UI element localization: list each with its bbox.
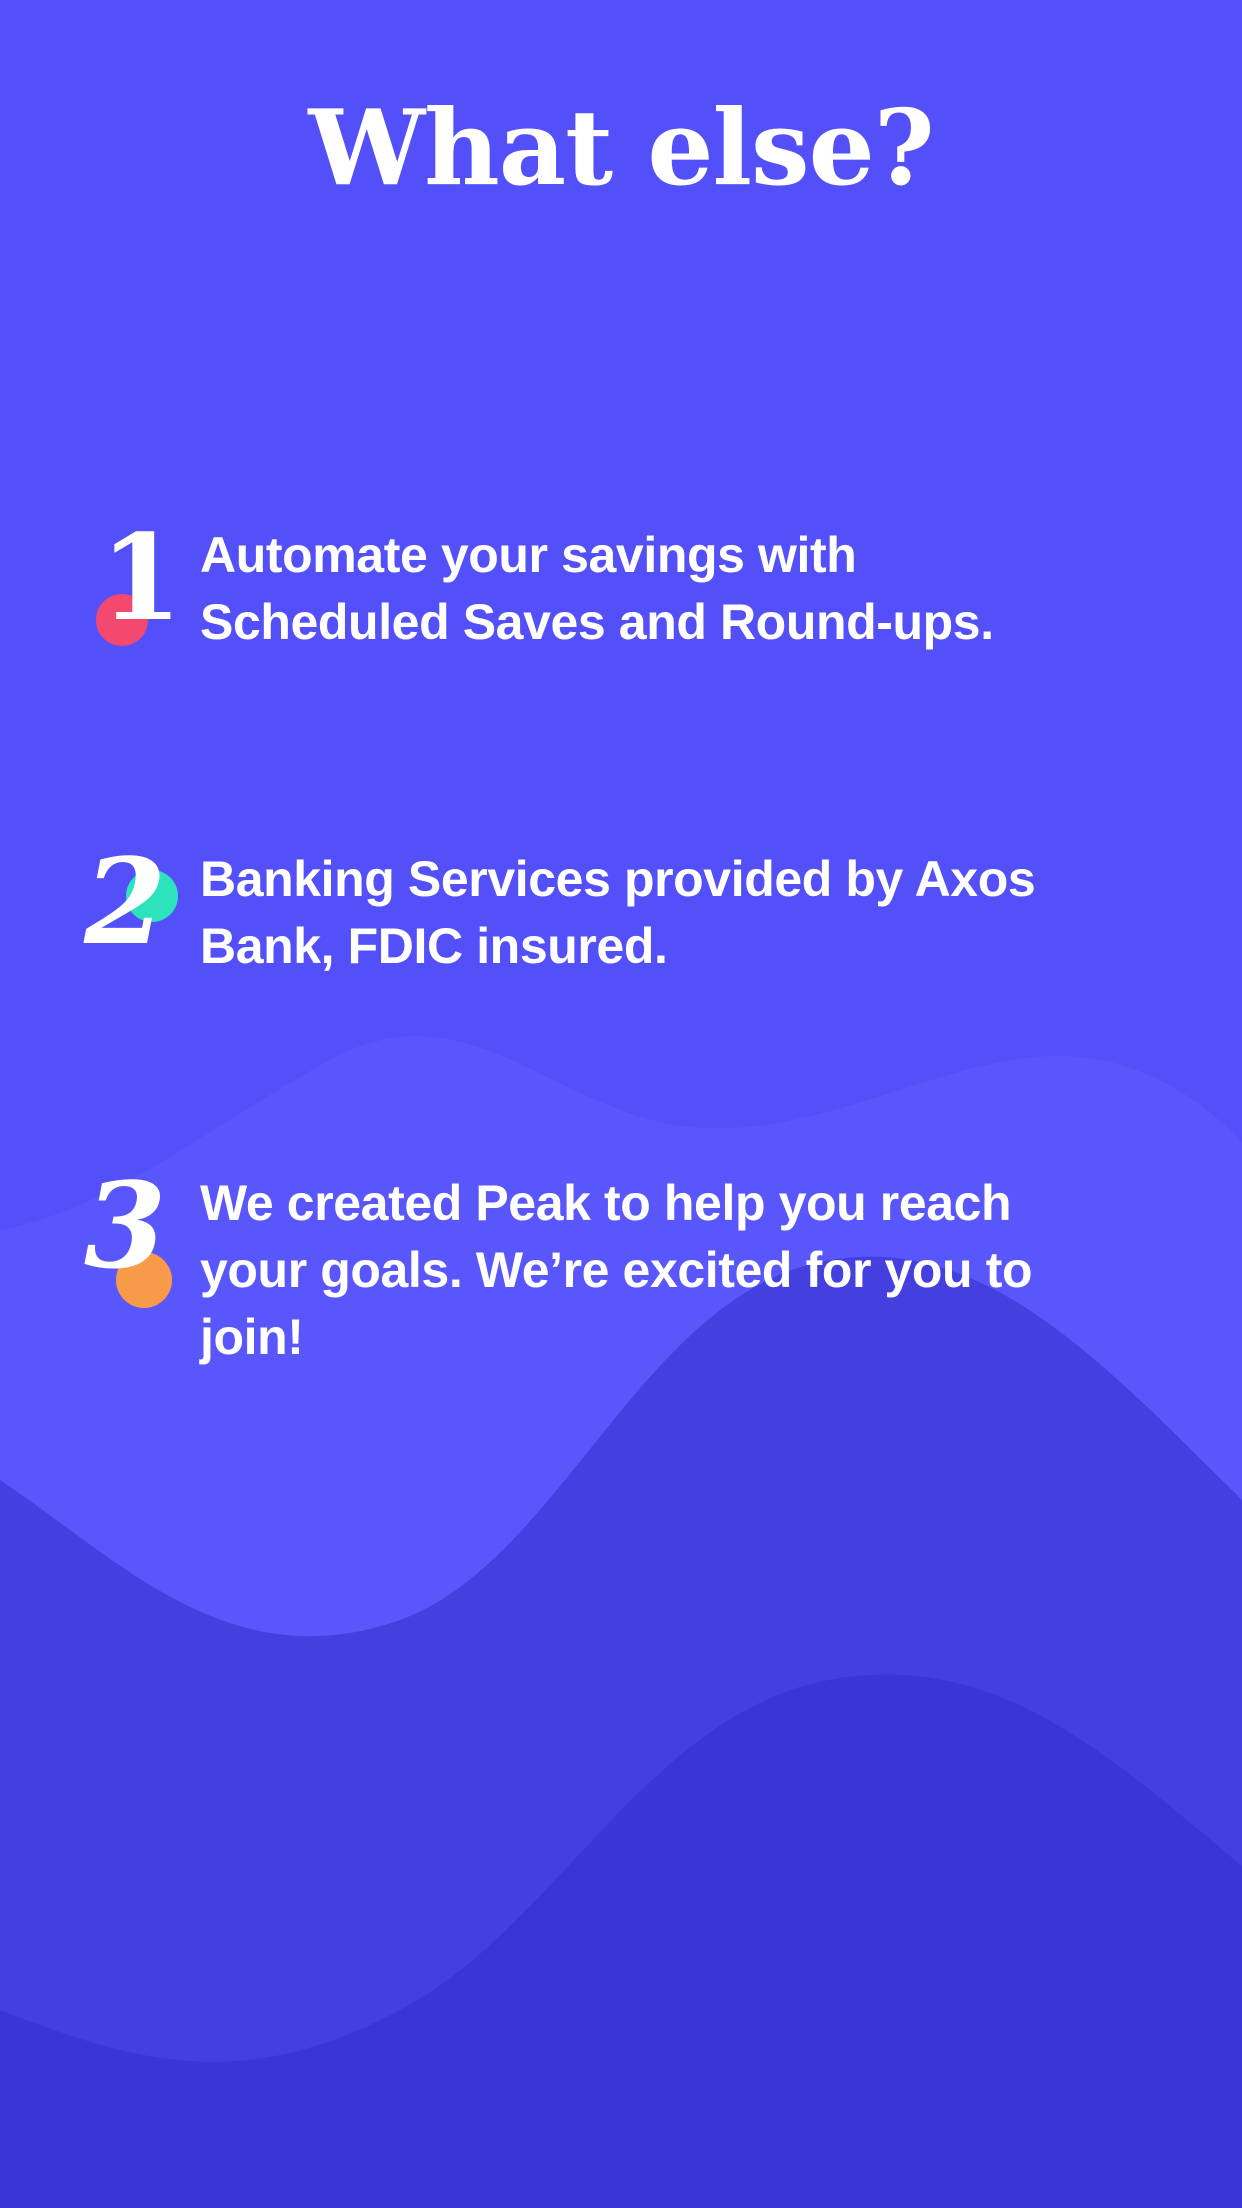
list-item-number: 3 <box>84 1164 200 1288</box>
list-item-number: 1 <box>84 516 200 640</box>
list-item-number-group: 2 <box>84 840 200 990</box>
page-title: What else? <box>0 96 1242 200</box>
list-item: 3 We created Peak to help you reach your… <box>0 1164 1242 1371</box>
list-item-text: Banking Services provided by Axos Bank, … <box>200 840 1040 980</box>
list-item-text: Automate your savings with Scheduled Sav… <box>200 516 1040 656</box>
list-item: 1 Automate your savings with Scheduled S… <box>0 516 1242 666</box>
list-item-text: We created Peak to help you reach your g… <box>200 1164 1040 1371</box>
screen-content: What else? 1 Automate your savings with … <box>0 0 1242 2208</box>
list-item-number-group: 3 <box>84 1164 200 1314</box>
list-item-number: 2 <box>84 840 200 964</box>
list-item: 2 Banking Services provided by Axos Bank… <box>0 840 1242 990</box>
benefits-list: 1 Automate your savings with Scheduled S… <box>0 516 1242 1371</box>
list-item-number-group: 1 <box>84 516 200 666</box>
